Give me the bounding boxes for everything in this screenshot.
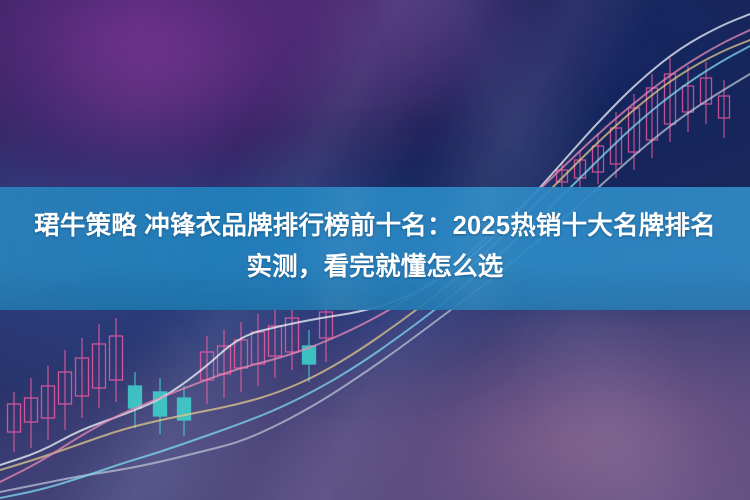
headline-line-1: 珺牛策略 冲锋衣品牌排行榜前十名：2025热销十大名牌排名: [34, 212, 716, 240]
promo-banner-image: 珺牛策略 冲锋衣品牌排行榜前十名：2025热销十大名牌排名 实测，看完就懂怎么选: [0, 0, 750, 500]
headline-line-2: 实测，看完就懂怎么选: [0, 247, 750, 288]
page-title: 珺牛策略 冲锋衣品牌排行榜前十名：2025热销十大名牌排名 实测，看完就懂怎么选: [0, 206, 750, 288]
